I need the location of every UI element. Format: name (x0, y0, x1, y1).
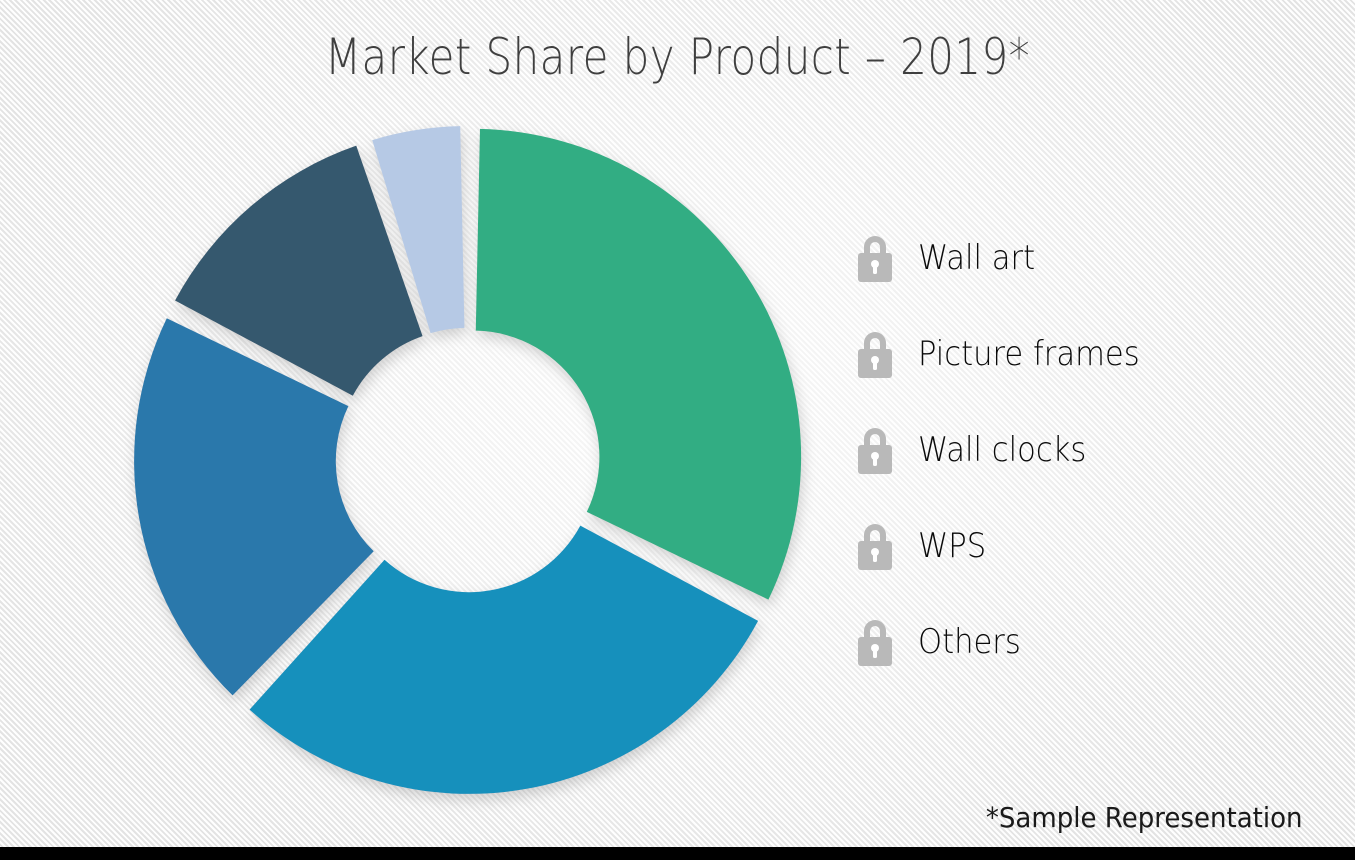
legend-item[interactable]: Picture frames (852, 306, 1292, 402)
bottom-black-bar (0, 847, 1355, 860)
footnote-text: *Sample Representation (986, 801, 1303, 834)
legend-item[interactable]: WPS (852, 498, 1292, 594)
page-title: Market Share by Product – 2019* (108, 28, 1246, 86)
slide-canvas: Market Share by Product – 2019* Wall art… (0, 0, 1355, 860)
legend-item-label: Wall art (918, 238, 1035, 278)
legend-item-label: Others (918, 622, 1021, 662)
lock-icon (852, 616, 898, 668)
lock-icon (852, 232, 898, 284)
legend-item-label: Picture frames (918, 334, 1140, 374)
lock-icon (852, 520, 898, 572)
legend-item-label: WPS (918, 526, 986, 566)
legend-item-label: Wall clocks (918, 430, 1086, 470)
donut-chart-svg (140, 132, 796, 788)
lock-icon (852, 424, 898, 476)
donut-slice-group (134, 126, 801, 794)
legend-item[interactable]: Wall clocks (852, 402, 1292, 498)
legend-item[interactable]: Others (852, 594, 1292, 690)
chart-legend: Wall artPicture framesWall clocksWPSOthe… (852, 210, 1292, 690)
donut-chart (140, 132, 796, 788)
lock-icon (852, 328, 898, 380)
donut-slice[interactable] (476, 129, 801, 600)
legend-item[interactable]: Wall art (852, 210, 1292, 306)
